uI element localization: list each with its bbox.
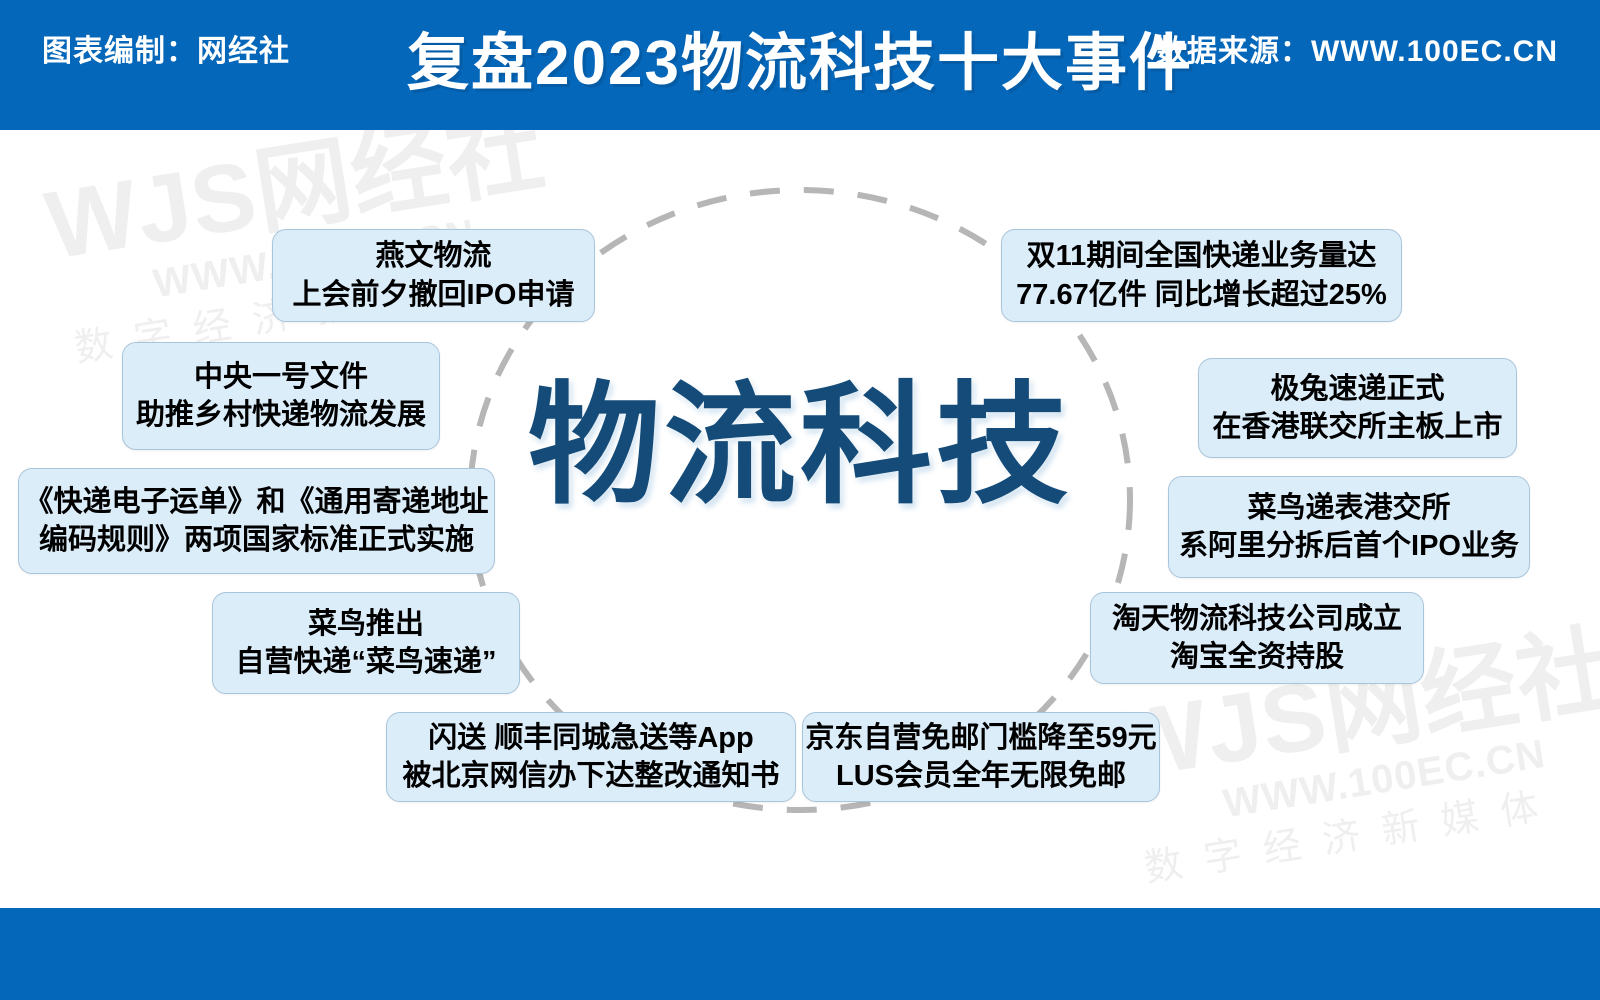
event-line-2: 编码规则》两项国家标准正式实施 <box>25 521 489 559</box>
footer-credit: 图表编制：网经社 <box>42 26 290 70</box>
event-line-1: 《快递电子运单》和《通用寄递地址 <box>25 483 489 521</box>
event-line-1: 京东自营免邮门槛降至59元 <box>805 719 1156 757</box>
event-line-2: LUS会员全年无限免邮 <box>805 757 1156 795</box>
event-line-1: 菜鸟递表港交所 <box>1179 489 1519 527</box>
event-box-national-standards[interactable]: 《快递电子运单》和《通用寄递地址 编码规则》两项国家标准正式实施 <box>18 468 495 574</box>
event-box-cainiao-hkex-filing[interactable]: 菜鸟递表港交所 系阿里分拆后首个IPO业务 <box>1168 476 1530 578</box>
event-box-jd-free-shipping[interactable]: 京东自营免邮门槛降至59元 LUS会员全年无限免邮 <box>802 712 1160 802</box>
event-line-2: 助推乡村快递物流发展 <box>136 396 426 434</box>
event-line-1: 燕文物流 <box>293 237 575 275</box>
event-line-1: 双11期间全国快递业务量达 <box>1016 237 1387 275</box>
event-box-cainiao-self-delivery[interactable]: 菜鸟推出 自营快递“菜鸟速递” <box>212 592 520 694</box>
event-line-2: 自营快递“菜鸟速递” <box>235 643 496 681</box>
event-line-2: 淘宝全资持股 <box>1112 638 1402 676</box>
center-topic-label: 物流科技 <box>490 368 1110 524</box>
event-box-central-no1-document[interactable]: 中央一号文件 助推乡村快递物流发展 <box>122 342 440 450</box>
event-line-1: 中央一号文件 <box>136 358 426 396</box>
event-line-2: 上会前夕撤回IPO申请 <box>293 276 575 314</box>
event-line-1: 菜鸟推出 <box>235 605 496 643</box>
event-line-1: 淘天物流科技公司成立 <box>1112 600 1402 638</box>
event-box-jt-express-listing[interactable]: 极兔速递正式 在香港联交所主板上市 <box>1198 358 1517 458</box>
footer-source: 数据来源：WWW.100EC.CN <box>1156 26 1558 70</box>
footer-bar <box>0 908 1600 1000</box>
event-line-1: 极兔速递正式 <box>1212 370 1502 408</box>
event-line-2: 在香港联交所主板上市 <box>1212 408 1502 446</box>
event-box-double11-volume[interactable]: 双11期间全国快递业务量达 77.67亿件 同比增长超过25% <box>1001 229 1402 322</box>
infographic-canvas: WJS网经社 WWW.100EC.CN 数字经济新媒体 WJS网经社 WWW.1… <box>0 0 1600 1000</box>
event-box-taotian-logistics[interactable]: 淘天物流科技公司成立 淘宝全资持股 <box>1090 592 1424 684</box>
event-line-2: 77.67亿件 同比增长超过25% <box>1016 276 1387 314</box>
event-box-yanwen-ipo[interactable]: 燕文物流 上会前夕撤回IPO申请 <box>272 229 595 322</box>
event-line-1: 闪送 顺丰同城急送等App <box>402 719 779 757</box>
event-line-2: 被北京网信办下达整改通知书 <box>402 757 779 795</box>
event-box-shansong-sf-rectification[interactable]: 闪送 顺丰同城急送等App 被北京网信办下达整改通知书 <box>386 712 796 802</box>
event-line-2: 系阿里分拆后首个IPO业务 <box>1179 527 1519 565</box>
